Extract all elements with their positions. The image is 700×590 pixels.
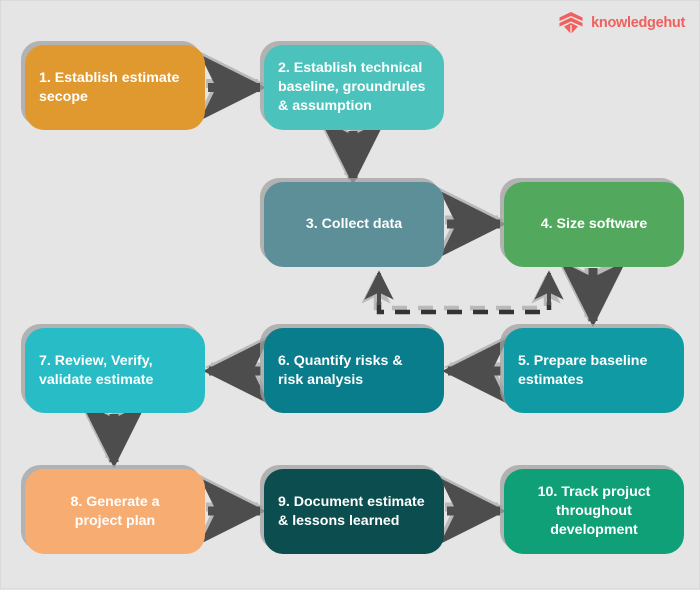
flow-node-step-10-label: 10. Track projuct throughout development [518, 483, 670, 540]
connector-step4-step5 [589, 268, 593, 321]
connector-step9-step10 [445, 507, 500, 511]
connector-step5-step6 [448, 367, 501, 371]
connector-step7-step8 [110, 414, 114, 462]
flow-node-step-2[interactable]: 2. Establish technical baseline, groundr… [264, 45, 444, 130]
connector-step6-step7 [209, 367, 261, 371]
flow-node-step-6-label: 6. Quantify risks & risk analysis [278, 352, 430, 390]
flow-node-step-2-label: 2. Establish technical baseline, groundr… [278, 59, 430, 116]
flow-node-step-9[interactable]: 9. Document estimate & lessons learned [264, 469, 444, 554]
connector-feedback-loop-dashed [376, 273, 549, 312]
flow-node-step-7[interactable]: 7. Review, Verify, validate estimate [25, 328, 205, 413]
connector-step2-step3 [349, 131, 353, 179]
flow-node-step-7-label: 7. Review, Verify, validate estimate [39, 352, 191, 390]
flow-node-step-9-label: 9. Document estimate & lessons learned [278, 493, 430, 531]
knowledgehut-book-mark-icon [558, 11, 584, 35]
flow-node-step-1[interactable]: 1. Establish estimate secope [25, 45, 205, 130]
brand-logo: knowledgehut [558, 11, 685, 35]
flow-node-step-10[interactable]: 10. Track projuct throughout development [504, 469, 684, 554]
flow-node-step-6[interactable]: 6. Quantify risks & risk analysis [264, 328, 444, 413]
flow-node-step-1-label: 1. Establish estimate secope [39, 69, 191, 107]
flow-node-step-5-label: 5. Prepare baseline estimates [518, 352, 670, 390]
diagram-canvas: knowledgehut [0, 0, 700, 589]
flow-node-step-4-label: 4. Size software [518, 215, 670, 234]
flow-node-step-8-label: 8. Generate a project plan [39, 493, 191, 531]
flow-node-step-4[interactable]: 4. Size software [504, 182, 684, 267]
flow-node-step-8[interactable]: 8. Generate a project plan [25, 469, 205, 554]
connector-step1-step2 [206, 84, 260, 88]
flow-node-step-3[interactable]: 3. Collect data [264, 182, 444, 267]
flow-node-step-3-label: 3. Collect data [278, 215, 430, 234]
brand-wordmark: knowledgehut [591, 16, 685, 31]
flow-node-step-5[interactable]: 5. Prepare baseline estimates [504, 328, 684, 413]
connector-step3-step4 [445, 220, 500, 224]
connector-step8-step9 [206, 507, 260, 511]
